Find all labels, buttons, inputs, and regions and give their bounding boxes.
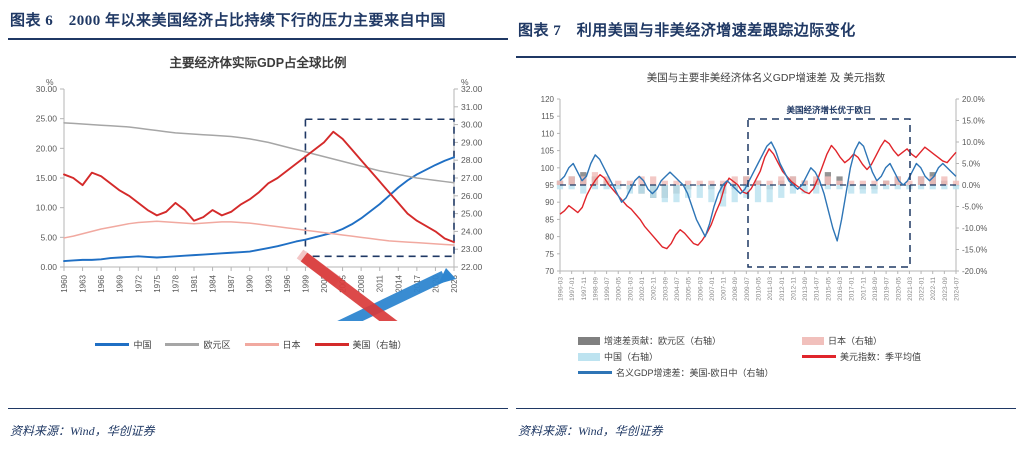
- bar: [941, 185, 947, 189]
- svg-text:2000-05: 2000-05: [616, 277, 623, 301]
- bar: [825, 176, 831, 185]
- bar: [930, 185, 936, 189]
- svg-text:70: 70: [545, 267, 554, 276]
- svg-text:110: 110: [541, 129, 554, 138]
- bar: [836, 181, 842, 185]
- bar: [883, 185, 889, 189]
- svg-text:20.00: 20.00: [36, 143, 58, 153]
- svg-text:120: 120: [541, 95, 555, 104]
- svg-text:1996: 1996: [283, 274, 292, 292]
- bar: [650, 176, 656, 185]
- bar: [895, 185, 901, 189]
- svg-text:2013-09: 2013-09: [802, 277, 809, 301]
- figure-7-title: 图表 7 利用美国与非美经济增速差跟踪边际变化: [516, 0, 1016, 42]
- svg-text:2008-09: 2008-09: [732, 277, 739, 301]
- svg-text:10.0%: 10.0%: [962, 138, 985, 147]
- bar: [569, 185, 575, 189]
- svg-text:2008: 2008: [357, 274, 366, 292]
- svg-text:2012-11: 2012-11: [790, 277, 797, 301]
- bar: [778, 185, 784, 198]
- svg-text:-15.0%: -15.0%: [962, 246, 987, 255]
- bar: [592, 185, 598, 189]
- svg-text:1984: 1984: [209, 274, 218, 292]
- figure-7-source: 资料来源：Wind，华创证券: [518, 422, 663, 439]
- bar: [580, 185, 586, 194]
- svg-text:85: 85: [545, 215, 554, 224]
- legend-swatch: [802, 337, 824, 345]
- svg-text:75: 75: [545, 250, 554, 259]
- legend-swatch: [165, 343, 199, 345]
- bar: [918, 176, 924, 185]
- bar: [953, 181, 959, 185]
- svg-text:-10.0%: -10.0%: [962, 224, 987, 233]
- svg-text:2011-03: 2011-03: [767, 277, 774, 301]
- svg-text:95: 95: [545, 181, 554, 190]
- figure-6-chart-title: 主要经济体实际GDP占全球比例: [8, 52, 508, 71]
- svg-text:2020-05: 2020-05: [895, 277, 902, 301]
- svg-text:1966: 1966: [97, 274, 106, 292]
- legend-item-4: 名义GDP增速差：美国-欧日中（右轴）: [578, 366, 788, 379]
- svg-text:1997-01: 1997-01: [569, 277, 576, 301]
- figure-7-panel: 图表 7 利用美国与非美经济增速差跟踪边际变化 美国与主要非美经济体名义GDP增…: [516, 0, 1016, 451]
- bar: [708, 185, 714, 202]
- series-1: [64, 123, 454, 183]
- legend-item-3: 美元指数：季平均值: [802, 350, 921, 363]
- figure-7-legend: 增速差贡献：欧元区（右轴）日本（右轴）中国（右轴）美元指数：季平均值名义GDP增…: [516, 334, 1016, 382]
- legend-item-1: 日本（右轴）: [802, 334, 882, 347]
- svg-text:30.00: 30.00: [461, 120, 483, 130]
- svg-text:20.0%: 20.0%: [962, 95, 985, 104]
- svg-text:10.00: 10.00: [36, 203, 58, 213]
- figure-6-plot-area: 0.005.0010.0015.0020.0025.0030.0022.0023…: [8, 71, 508, 321]
- svg-text:1998-09: 1998-09: [592, 277, 599, 301]
- svg-text:15.0%: 15.0%: [962, 117, 985, 126]
- series-2: [64, 221, 454, 245]
- figure-7-plot-area: 707580859095100105110115120-20.0%-15.0%-…: [516, 85, 1016, 335]
- svg-text:2004-07: 2004-07: [674, 277, 681, 301]
- svg-text:2001-03: 2001-03: [627, 277, 634, 301]
- bar: [673, 185, 679, 202]
- bar: [941, 176, 947, 185]
- figure-6-legend: 中国欧元区日本美国（右轴）: [8, 338, 508, 351]
- figure-6-title-rule: [8, 38, 508, 40]
- svg-text:80: 80: [545, 233, 554, 242]
- svg-text:2011: 2011: [376, 274, 385, 292]
- bar: [697, 185, 703, 198]
- legend-swatch: [578, 353, 600, 361]
- svg-text:-20.0%: -20.0%: [962, 267, 987, 276]
- svg-text:2002-01: 2002-01: [639, 277, 646, 301]
- figure-6-panel: 图表 6 2000 年以来美国经济占比持续下行的压力主要来自中国 主要经济体实际…: [8, 0, 508, 451]
- svg-text:27.00: 27.00: [461, 173, 483, 183]
- legend-item-0: 增速差贡献：欧元区（右轴）: [578, 334, 788, 347]
- svg-text:29.00: 29.00: [461, 137, 483, 147]
- svg-text:1999: 1999: [301, 274, 310, 292]
- svg-text:1960: 1960: [60, 274, 69, 292]
- legend-swatch: [95, 343, 129, 345]
- figure-7-title-rule: [516, 56, 1016, 58]
- svg-text:2015-05: 2015-05: [825, 277, 832, 301]
- bar: [767, 185, 773, 202]
- legend-label: 名义GDP增速差：美国-欧日中（右轴）: [616, 366, 774, 379]
- figure-6-svg: 0.005.0010.0015.0020.0025.0030.0022.0023…: [8, 71, 508, 321]
- svg-text:115: 115: [541, 112, 554, 121]
- legend-item-2: 日本: [245, 338, 301, 351]
- bar: [848, 185, 854, 194]
- bar: [860, 181, 866, 185]
- legend-item-0: 中国: [95, 338, 151, 351]
- svg-text:1993: 1993: [264, 274, 273, 292]
- figure-7-chart-title: 美国与主要非美经济体名义GDP增速差 及 美元指数: [516, 70, 1016, 85]
- legend-label: 日本: [283, 338, 301, 351]
- bar: [697, 181, 703, 185]
- svg-text:1963: 1963: [79, 274, 88, 292]
- legend-label: 日本（右轴）: [828, 334, 882, 347]
- svg-text:0.0%: 0.0%: [962, 181, 980, 190]
- bar: [615, 185, 621, 189]
- bar: [662, 181, 668, 185]
- bar: [848, 181, 854, 185]
- bar: [557, 181, 563, 185]
- svg-text:2007-01: 2007-01: [709, 277, 716, 301]
- svg-text:5.00: 5.00: [40, 232, 57, 242]
- svg-text:26.00: 26.00: [461, 191, 483, 201]
- bar: [627, 181, 633, 185]
- svg-text:2024-07: 2024-07: [954, 277, 961, 301]
- bar: [708, 181, 714, 185]
- svg-text:5.0%: 5.0%: [962, 160, 980, 169]
- svg-text:105: 105: [541, 147, 555, 156]
- svg-text:2014-07: 2014-07: [814, 277, 821, 301]
- bar: [557, 185, 563, 189]
- svg-text:2010-05: 2010-05: [756, 277, 763, 301]
- svg-text:1978: 1978: [171, 274, 180, 292]
- svg-text:2006-03: 2006-03: [697, 277, 704, 301]
- bar: [778, 176, 784, 185]
- svg-text:2003-09: 2003-09: [662, 277, 669, 301]
- bar: [871, 185, 877, 194]
- svg-text:2017-01: 2017-01: [849, 277, 856, 301]
- legend-item-1: 欧元区: [165, 338, 230, 351]
- figure-7-source-rule: [516, 408, 1016, 409]
- legend-swatch: [802, 355, 836, 357]
- svg-text:2021-03: 2021-03: [907, 277, 914, 301]
- legend-label: 美国（右轴）: [353, 338, 407, 351]
- svg-text:2017-11: 2017-11: [860, 277, 867, 301]
- legend-label: 欧元区: [203, 338, 230, 351]
- svg-text:2007-11: 2007-11: [721, 277, 728, 301]
- legend-swatch: [578, 371, 612, 373]
- legend-label: 增速差贡献：欧元区（右轴）: [604, 334, 721, 347]
- svg-text:25.00: 25.00: [461, 209, 483, 219]
- svg-text:2002-11: 2002-11: [651, 277, 658, 301]
- legend-label: 中国: [133, 338, 151, 351]
- bar: [953, 185, 959, 189]
- bar: [755, 181, 761, 185]
- bar: [755, 185, 761, 202]
- figure-6-source: 资料来源：Wind，华创证券: [10, 422, 155, 439]
- svg-text:25.00: 25.00: [36, 114, 58, 124]
- bar: [638, 185, 644, 194]
- legend-swatch: [315, 343, 349, 345]
- bar: [918, 185, 924, 189]
- bar: [767, 181, 773, 185]
- svg-text:23.00: 23.00: [461, 244, 483, 254]
- svg-text:2012-01: 2012-01: [779, 277, 786, 301]
- bar: [685, 181, 691, 185]
- svg-text:2018-09: 2018-09: [872, 277, 879, 301]
- svg-text:31.00: 31.00: [461, 102, 483, 112]
- svg-text:%: %: [46, 77, 54, 87]
- legend-label: 中国（右轴）: [604, 350, 658, 363]
- bar: [883, 181, 889, 185]
- svg-text:%: %: [461, 77, 469, 87]
- svg-text:2022-11: 2022-11: [930, 277, 937, 301]
- bar: [569, 176, 575, 185]
- legend-swatch: [245, 343, 279, 345]
- legend-item-2: 中国（右轴）: [578, 350, 788, 363]
- figure-7-svg: 707580859095100105110115120-20.0%-15.0%-…: [516, 85, 1016, 335]
- svg-text:-5.0%: -5.0%: [962, 203, 983, 212]
- svg-text:1990: 1990: [246, 274, 255, 292]
- svg-text:15.00: 15.00: [36, 173, 58, 183]
- legend-label: 美元指数：季平均值: [840, 350, 921, 363]
- figure-6-title: 图表 6 2000 年以来美国经济占比持续下行的压力主要来自中国: [8, 0, 508, 32]
- svg-text:1972: 1972: [134, 274, 143, 292]
- svg-text:22.00: 22.00: [461, 262, 483, 272]
- bar: [860, 185, 866, 194]
- legend-swatch: [578, 337, 600, 345]
- bar: [615, 181, 621, 185]
- svg-text:28.00: 28.00: [461, 155, 483, 165]
- svg-text:1981: 1981: [190, 274, 199, 292]
- bar: [662, 185, 668, 202]
- svg-text:1975: 1975: [153, 274, 162, 292]
- bar: [836, 185, 842, 189]
- svg-text:2009-07: 2009-07: [744, 277, 751, 301]
- svg-text:1996-03: 1996-03: [558, 277, 565, 301]
- svg-text:100: 100: [541, 164, 555, 173]
- svg-text:24.00: 24.00: [461, 226, 483, 236]
- svg-text:2023-09: 2023-09: [942, 277, 949, 301]
- svg-text:0.00: 0.00: [40, 262, 57, 272]
- svg-text:2016-03: 2016-03: [837, 277, 844, 301]
- svg-text:1999-07: 1999-07: [604, 277, 611, 301]
- svg-text:2019-07: 2019-07: [884, 277, 891, 301]
- svg-text:2005-05: 2005-05: [686, 277, 693, 301]
- annotation-label: 美国经济增长优于欧日: [786, 105, 871, 115]
- svg-text:90: 90: [545, 198, 554, 207]
- svg-text:1969: 1969: [116, 274, 125, 292]
- svg-text:1997-11: 1997-11: [581, 277, 588, 301]
- svg-text:2022-01: 2022-01: [919, 277, 926, 301]
- series-0: [64, 157, 454, 261]
- figure-6-source-rule: [8, 408, 508, 409]
- legend-item-3: 美国（右轴）: [315, 338, 407, 351]
- bar: [825, 185, 831, 189]
- svg-text:1987: 1987: [227, 274, 236, 292]
